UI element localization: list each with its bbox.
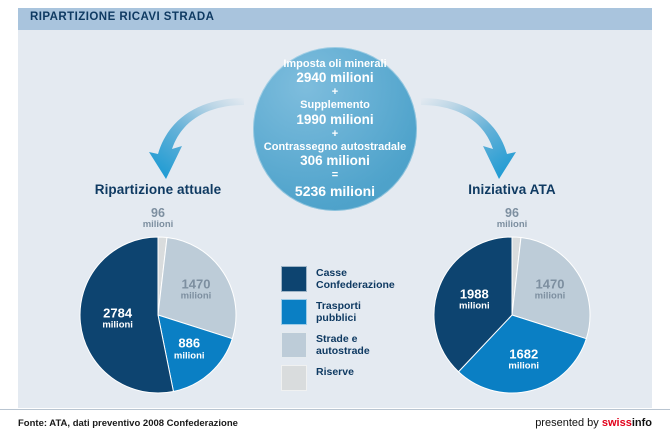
swissinfo-brand-red: swiss [602,417,632,429]
chart-ripartizione-attuale: Ripartizione attuale 96 milioni 1470mili… [48,182,268,395]
presented-by: presented by swissinfo [535,417,652,429]
hub-line1-value: 2940 milioni [296,70,373,85]
infographic-canvas: RIPARTIZIONE RICAVI STRADA Imposta [0,0,670,440]
chart-left-title: Ripartizione attuale [48,182,268,197]
pie-slice-unit: milioni [508,362,539,372]
chart-left-riserve-callout: 96 milioni [48,206,268,231]
pie-slice-label: 1470milioni [181,278,212,303]
pie-slice-value: 1988 [459,287,490,301]
pie-slice-unit: milioni [181,292,212,302]
pie-slice-value: 2784 [102,306,133,320]
hub-operator-2: + [332,129,338,140]
legend-swatch-icon [281,332,307,358]
legend-item[interactable]: Strade e autostrade [281,332,401,358]
swissinfo-brand-dark: info [632,417,652,429]
pie-slice-unit: milioni [459,302,490,312]
legend-item-label: Casse Confederazione [316,266,401,292]
pie-slice-unit: milioni [174,351,205,361]
hub-line2-value: 1990 milioni [296,112,373,127]
legend-item[interactable]: Trasporti pubblici [281,299,401,325]
pie-slice-label: 886milioni [174,337,205,362]
legend-item-label: Trasporti pubblici [316,299,401,325]
hub-line3-value: 306 milioni [300,153,370,168]
arrow-right-icon [420,78,540,184]
legend-item-label: Strade e autostrade [316,332,401,358]
pie-slice-label: 1988milioni [459,287,490,312]
hub-line2-label: Supplemento [300,99,370,111]
legend-swatch-icon [281,266,307,292]
chart-left-riserve-value: 96 [48,206,268,220]
pie-slice-value: 1470 [181,278,212,292]
pie-slice-unit: milioni [102,321,133,331]
legend-item[interactable]: Casse Confederazione [281,266,401,292]
pie-slice-label: 2784milioni [102,306,133,331]
pie-chart-left: 1470milioni886milioni2784milioni [78,235,238,395]
legend-item-label: Riserve [316,365,354,378]
chart-right-riserve-callout: 96 milioni [402,206,622,231]
hub-total-value: 5236 milioni [295,184,375,200]
legend-swatch-icon [281,365,307,391]
chart-right-riserve-unit: milioni [402,220,622,231]
legend-item[interactable]: Riserve [281,365,401,391]
source-note: Fonte: ATA, dati preventivo 2008 Confede… [18,418,238,429]
pie-slice-label: 1682milioni [508,348,539,373]
pie-slice-value: 1470 [535,278,566,292]
presented-by-label: presented by [535,417,599,429]
hub-line1-label: Imposta oli minerali [283,58,386,70]
pie-chart-right: 1470milioni1682milioni1988milioni [432,235,592,395]
hub-operator-3: = [332,170,338,181]
chart-right-riserve-value: 96 [402,206,622,220]
pie-slice-unit: milioni [535,292,566,302]
chart-legend: Casse ConfederazioneTrasporti pubbliciSt… [281,266,401,398]
legend-swatch-icon [281,299,307,325]
hub-line3-label: Contrassegno autostradale [264,141,406,153]
pie-slice-label: 1470milioni [535,278,566,303]
arrow-left-icon [125,78,245,184]
chart-left-riserve-unit: milioni [48,220,268,231]
chart-iniziativa-ata: Iniziativa ATA 96 milioni 1470milioni168… [402,182,622,395]
pie-slice-value: 886 [174,337,205,351]
chart-right-title: Iniziativa ATA [402,182,622,197]
pie-slice-value: 1682 [508,348,539,362]
page-title: RIPARTIZIONE RICAVI STRADA [30,11,214,23]
footer-divider [0,409,670,410]
central-sum-circle: Imposta oli minerali 2940 milioni + Supp… [253,47,417,211]
hub-operator-1: + [332,87,338,98]
